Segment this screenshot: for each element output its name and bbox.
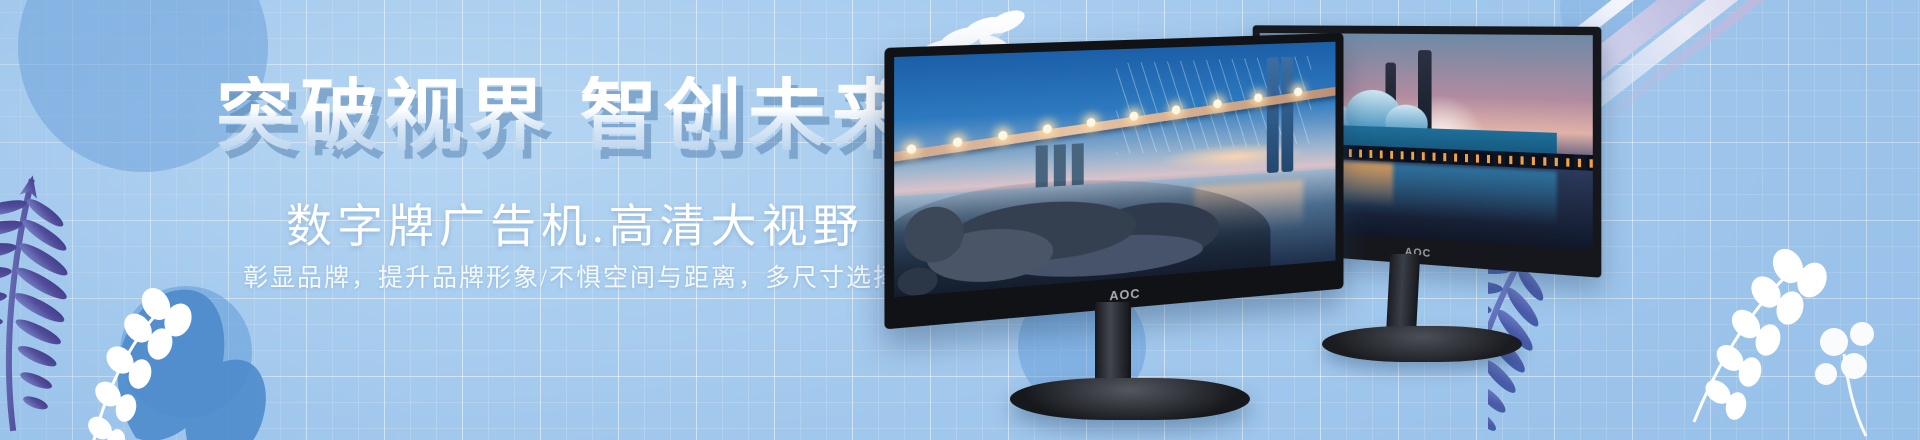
tagline: 彰显品牌，提升品牌形象/不惧空间与距离，多尺寸选择: [243, 258, 900, 294]
subheadline: 数字牌广告机.高清大视野: [286, 190, 864, 256]
product-images: AOC: [880, 0, 1920, 440]
front-monitor-screen: [894, 42, 1335, 297]
promo-banner: 突破视界 智创未来 数字牌广告机.高清大视野 彰显品牌，提升品牌形象/不惧空间与…: [0, 0, 1920, 440]
front-monitor-panel: AOC: [884, 33, 1343, 330]
headline: 突破视界 智创未来: [216, 76, 916, 154]
front-monitor-stand-base: [1010, 378, 1250, 420]
copy-block: 突破视界 智创未来 数字牌广告机.高清大视野 彰显品牌，提升品牌形象/不惧空间与…: [0, 0, 900, 440]
front-monitor: AOC: [890, 40, 1380, 400]
bridge-scene: [894, 42, 1335, 297]
